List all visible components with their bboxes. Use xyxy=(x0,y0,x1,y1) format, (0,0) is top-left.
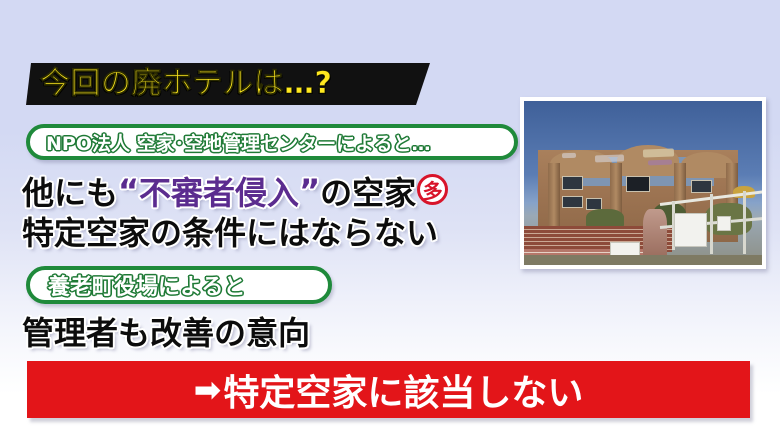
gate-post xyxy=(643,209,667,258)
white-sheet-3 xyxy=(717,216,731,231)
graffiti-3 xyxy=(648,160,672,166)
ground-strip xyxy=(524,255,762,265)
window-3 xyxy=(626,176,649,191)
pillar-1 xyxy=(548,163,560,225)
window-5 xyxy=(586,198,602,210)
body-line-1-quote-open: “ xyxy=(118,172,139,210)
graffiti-1 xyxy=(595,155,624,163)
conclusion-banner-label: 特定空家に該当しない xyxy=(223,364,583,416)
npo-source-badge: NPO法人 空家･空地管理センターによると… xyxy=(26,124,518,160)
npo-source-badge-label: NPO法人 空家･空地管理センターによると… xyxy=(46,129,431,156)
window-4 xyxy=(691,180,712,193)
white-sheet-1 xyxy=(674,213,707,248)
town-office-source-badge-label: 養老町役場によると xyxy=(48,269,245,301)
window-1 xyxy=(562,176,583,189)
body-line-3: 管理者も改善の意向 xyxy=(22,308,310,354)
right-arrow-icon: ➡ xyxy=(194,373,222,406)
graffiti-2 xyxy=(643,148,674,157)
body-line-1-quote-close: ” xyxy=(299,172,320,210)
body-line-2: 特定空家の条件にはならない xyxy=(22,208,438,254)
fence-post-2 xyxy=(710,194,713,253)
conclusion-banner: ➡ 特定空家に該当しない xyxy=(27,361,750,418)
broadcast-graphic-slide: 今回の廃ホテルは…? NPO法人 空家･空地管理センターによると… 他にも “ … xyxy=(0,0,780,438)
abandoned-hotel-photo xyxy=(520,97,766,269)
town-office-source-badge: 養老町役場によると xyxy=(26,266,332,304)
fence-post-3 xyxy=(743,191,746,253)
many-badge-icon: 多 xyxy=(417,174,448,205)
abandoned-hotel-photo-image xyxy=(524,101,762,265)
window-2 xyxy=(562,196,583,208)
conclusion-banner-text-row: ➡ 特定空家に該当しない xyxy=(194,364,584,416)
page-title: 今回の廃ホテルは…? xyxy=(40,63,440,105)
